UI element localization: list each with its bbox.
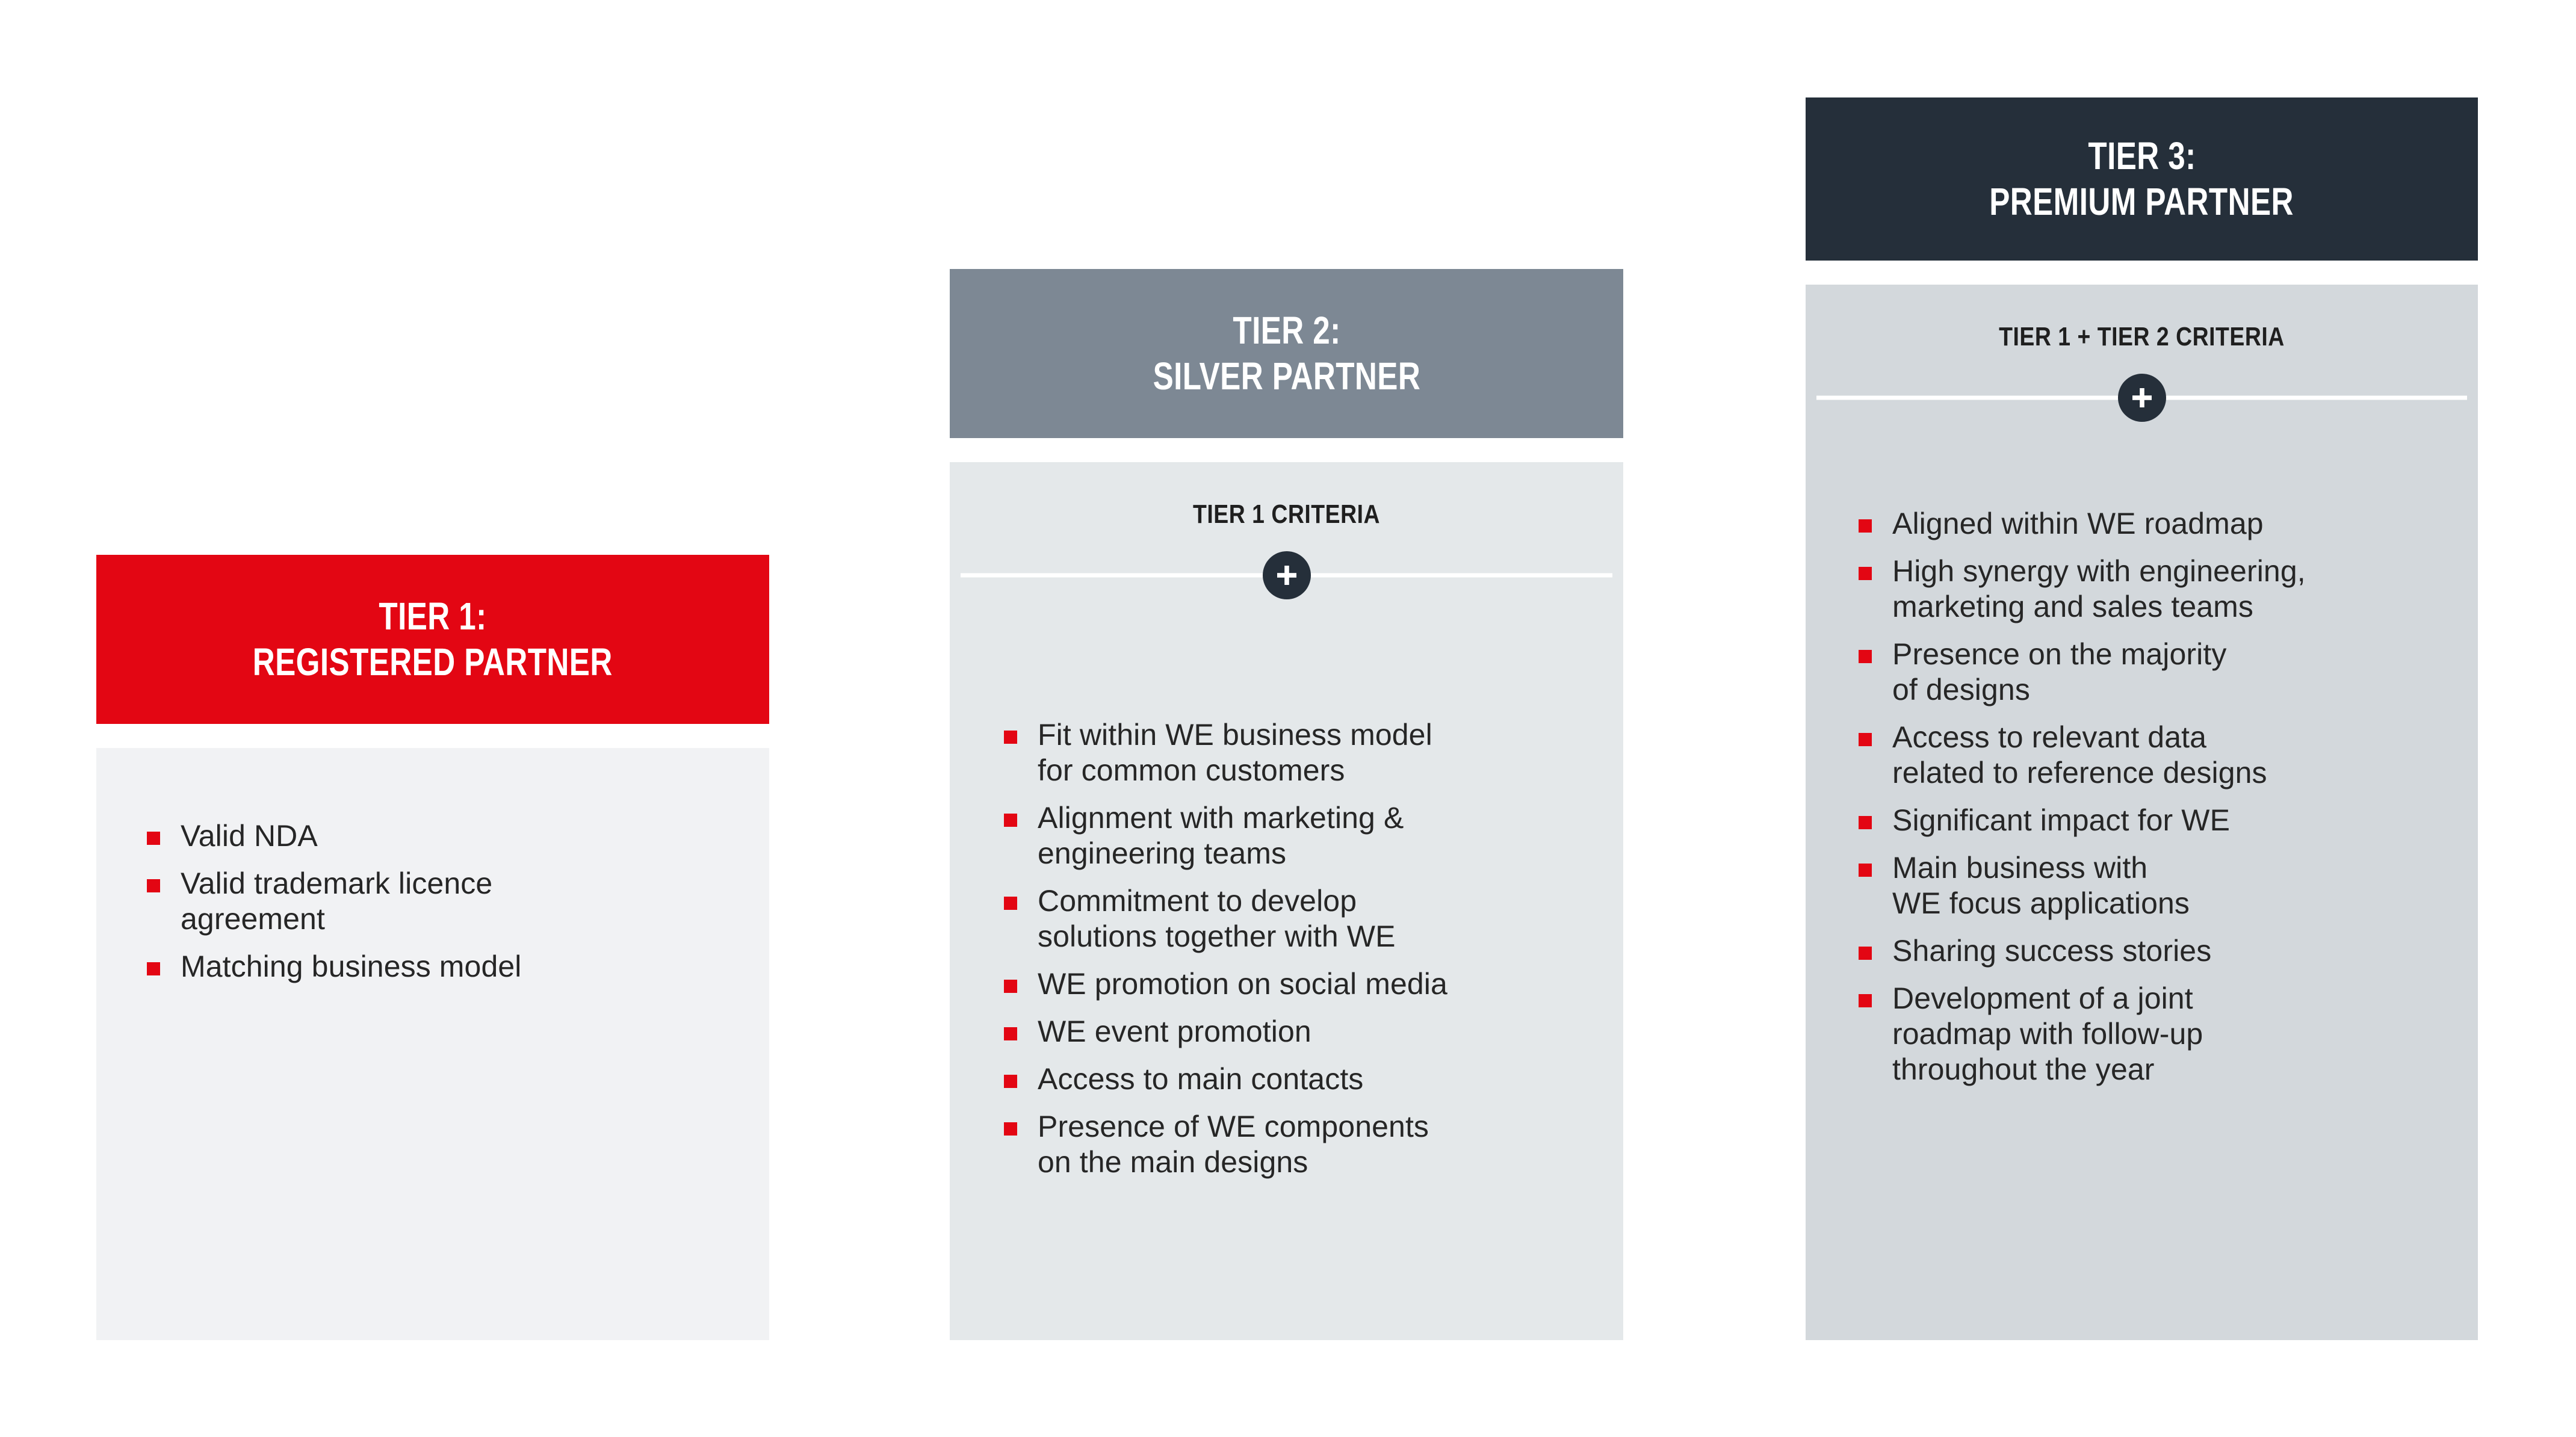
square-bullet-icon (1859, 650, 1872, 663)
tier-2-header-line-2: SILVER PARTNER (1153, 354, 1420, 400)
list-item: Access to relevant data related to refer… (1859, 720, 2456, 791)
list-item-label: Fit within WE business model for common … (1038, 717, 1599, 788)
tier-1-header: TIER 1: REGISTERED PARTNER (96, 555, 769, 724)
tier-3-header: TIER 3: PREMIUM PARTNER (1806, 97, 2478, 261)
list-item-label: Matching business model (181, 949, 745, 984)
tier-column-2: TIER 2: SILVER PARTNER TIER 1 CRITERIA (950, 269, 1623, 1340)
list-item-label: Valid NDA (181, 818, 745, 854)
plus-icon (2118, 374, 2166, 422)
tier-3-body: TIER 1 + TIER 2 CRITERIA Aligned (1806, 285, 2478, 1340)
list-item-label: Valid trademark licence agreement (181, 866, 745, 937)
list-item-label: Significant impact for WE (1892, 803, 2456, 838)
tier-2-criteria-list: Fit within WE business model for common … (1004, 717, 1599, 1180)
list-item: Sharing success stories (1859, 933, 2456, 969)
square-bullet-icon (1859, 567, 1872, 580)
square-bullet-icon (1859, 519, 1872, 533)
square-bullet-icon (1859, 733, 1872, 746)
list-item: Access to main contacts (1004, 1062, 1599, 1097)
list-item: High synergy with engineering, marketing… (1859, 554, 2456, 625)
square-bullet-icon (1004, 731, 1017, 744)
tier-1-header-line-1: TIER 1: (379, 594, 486, 640)
tier-3-criteria-list: Aligned within WE roadmap High synergy w… (1859, 506, 2456, 1087)
tier-2-header-gap (950, 438, 1623, 462)
list-item: Commitment to develop solutions together… (1004, 883, 1599, 954)
list-item: Presence on the majority of designs (1859, 637, 2456, 708)
list-item: Alignment with marketing & engineering t… (1004, 800, 1599, 871)
list-item-label: Presence on the majority of designs (1892, 637, 2456, 708)
tier-2-header-line-1: TIER 2: (1233, 308, 1340, 354)
square-bullet-icon (147, 832, 160, 845)
square-bullet-icon (1859, 816, 1872, 829)
square-bullet-icon (1859, 994, 1872, 1007)
tier-3-header-line-1: TIER 3: (2088, 134, 2196, 179)
square-bullet-icon (1004, 897, 1017, 910)
square-bullet-icon (1859, 864, 1872, 877)
list-item-label: Presence of WE components on the main de… (1038, 1109, 1599, 1180)
list-item: Matching business model (147, 949, 745, 984)
list-item: Aligned within WE roadmap (1859, 506, 2456, 542)
tier-3-criteria-title: TIER 1 + TIER 2 CRITERIA (1856, 322, 2427, 352)
list-item: Valid trademark licence agreement (147, 866, 745, 937)
list-item: Development of a joint roadmap with foll… (1859, 981, 2456, 1087)
list-item-label: Development of a joint roadmap with foll… (1892, 981, 2456, 1087)
square-bullet-icon (1004, 1075, 1017, 1088)
list-item-label: Access to relevant data related to refer… (1892, 720, 2456, 791)
list-item-label: Sharing success stories (1892, 933, 2456, 969)
tier-2-criteria-title: TIER 1 CRITERIA (1000, 499, 1573, 530)
list-item-label: High synergy with engineering, marketing… (1892, 554, 2456, 625)
tier-3-header-gap (1806, 261, 2478, 285)
tier-1-header-line-2: REGISTERED PARTNER (253, 640, 613, 685)
list-item: Main business with WE focus applications (1859, 850, 2456, 921)
square-bullet-icon (1004, 1122, 1017, 1136)
list-item-label: Alignment with marketing & engineering t… (1038, 800, 1599, 871)
tier-1-criteria-list: Valid NDA Valid trademark licence agreem… (147, 818, 745, 984)
list-item: Significant impact for WE (1859, 803, 2456, 838)
plus-icon (1263, 551, 1311, 599)
partner-tier-infographic: TIER 1: REGISTERED PARTNER Valid NDA Val… (0, 0, 2576, 1437)
list-item: Valid NDA (147, 818, 745, 854)
tier-3-divider (1806, 369, 2478, 427)
tier-column-3: TIER 3: PREMIUM PARTNER TIER 1 + TIER 2 … (1806, 97, 2478, 1340)
list-item: WE event promotion (1004, 1014, 1599, 1049)
list-item-label: WE event promotion (1038, 1014, 1599, 1049)
list-item: WE promotion on social media (1004, 966, 1599, 1002)
list-item-label: Main business with WE focus applications (1892, 850, 2456, 921)
square-bullet-icon (1004, 1027, 1017, 1040)
square-bullet-icon (1859, 947, 1872, 960)
tier-1-header-gap (96, 724, 769, 748)
tier-2-criteria-block: TIER 1 CRITERIA (950, 462, 1623, 604)
square-bullet-icon (147, 962, 160, 975)
list-item-label: Aligned within WE roadmap (1892, 506, 2456, 542)
list-item: Fit within WE business model for common … (1004, 717, 1599, 788)
square-bullet-icon (1004, 814, 1017, 827)
square-bullet-icon (1004, 980, 1017, 993)
tier-column-1: TIER 1: REGISTERED PARTNER Valid NDA Val… (96, 555, 769, 1340)
tier-2-header: TIER 2: SILVER PARTNER (950, 269, 1623, 438)
tier-1-body: Valid NDA Valid trademark licence agreem… (96, 748, 769, 1340)
square-bullet-icon (147, 879, 160, 892)
tier-2-divider (950, 546, 1623, 604)
tier-2-body: TIER 1 CRITERIA Fit within WE bus (950, 462, 1623, 1340)
list-item-label: WE promotion on social media (1038, 966, 1599, 1002)
list-item: Presence of WE components on the main de… (1004, 1109, 1599, 1180)
tier-3-header-line-2: PREMIUM PARTNER (1990, 179, 2294, 225)
list-item-label: Commitment to develop solutions together… (1038, 883, 1599, 954)
tier-3-criteria-block: TIER 1 + TIER 2 CRITERIA (1806, 285, 2478, 427)
list-item-label: Access to main contacts (1038, 1062, 1599, 1097)
